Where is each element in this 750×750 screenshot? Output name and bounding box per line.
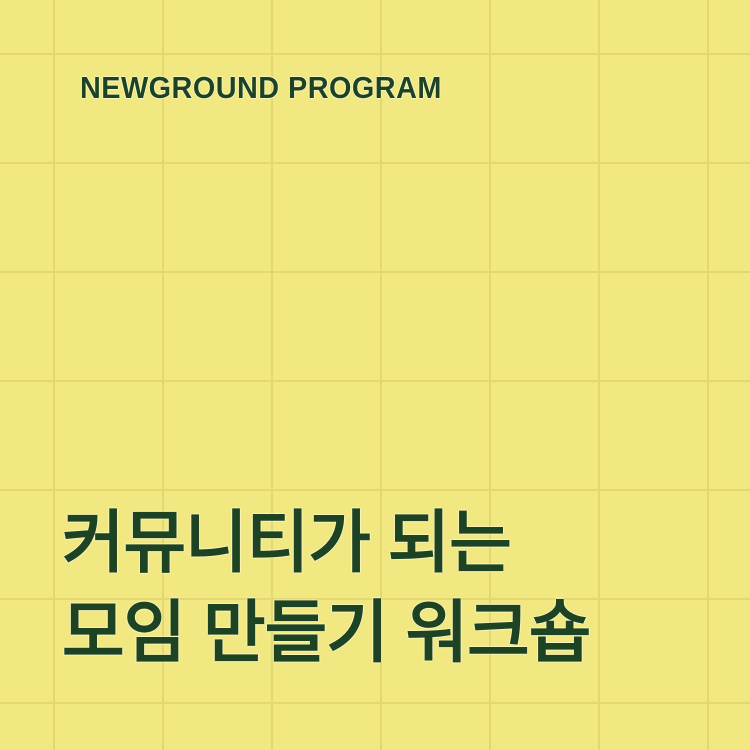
grid-line-horizontal — [0, 702, 750, 704]
poster-canvas: NEWGROUND PROGRAM 커뮤니티가 되는 모임 만들기 워크숍 — [0, 0, 750, 750]
grid-line-vertical — [53, 0, 55, 750]
grid-line-horizontal — [0, 489, 750, 491]
headline-line-2: 모임 만들기 워크숍 — [62, 588, 702, 678]
headline-line-1: 커뮤니티가 되는 — [62, 498, 702, 588]
grid-line-vertical — [707, 0, 709, 750]
grid-line-horizontal — [0, 380, 750, 382]
grid-line-horizontal — [0, 162, 750, 164]
program-eyebrow-label: NEWGROUND PROGRAM — [80, 68, 442, 108]
headline-block: 커뮤니티가 되는 모임 만들기 워크숍 — [62, 498, 702, 678]
grid-line-horizontal — [0, 53, 750, 55]
grid-line-horizontal — [0, 271, 750, 273]
